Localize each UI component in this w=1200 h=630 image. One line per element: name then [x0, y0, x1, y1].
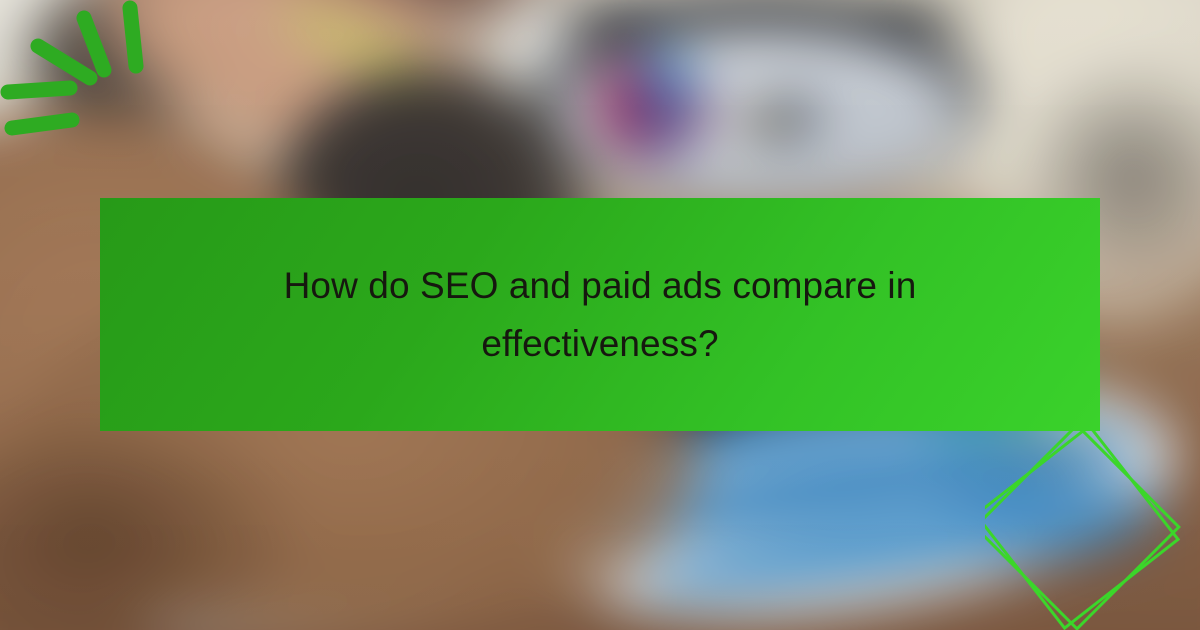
page-title: How do SEO and paid ads compare in effec… — [270, 257, 930, 372]
title-banner: How do SEO and paid ads compare in effec… — [100, 198, 1100, 431]
share-card-canvas: How do SEO and paid ads compare in effec… — [0, 0, 1200, 630]
